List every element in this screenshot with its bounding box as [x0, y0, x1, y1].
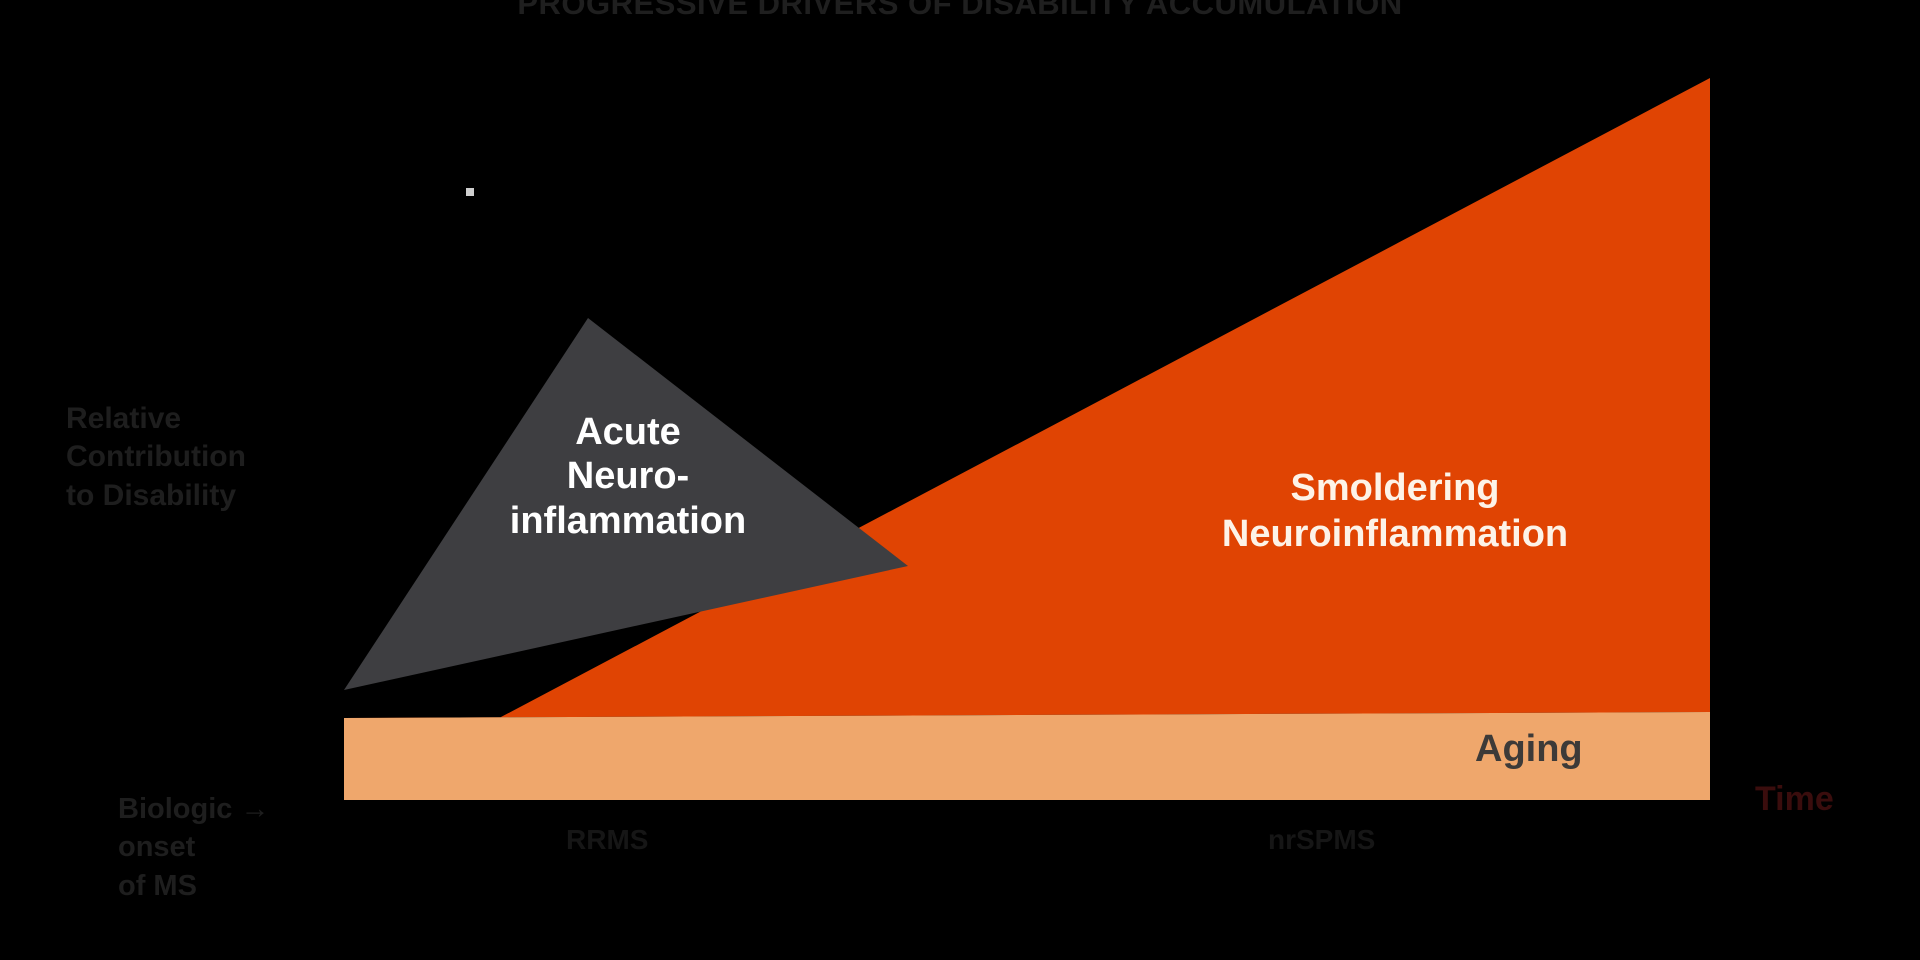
- y-axis-label-line-1: Relative: [66, 400, 336, 438]
- x-axis-origin-label: Biologic → onset of MS: [118, 790, 368, 905]
- stray-dot-artifact: [466, 188, 474, 196]
- figure-canvas: PROGRESSIVE DRIVERS OF DISABILITY ACCUMU…: [0, 0, 1920, 960]
- x-axis-origin-line-2: onset: [118, 828, 368, 866]
- x-axis-origin-line-1: Biologic →: [118, 790, 368, 828]
- x-axis-tick-rrms: RRMS: [566, 824, 648, 856]
- x-axis-origin-line-3: of MS: [118, 867, 368, 905]
- x-axis-tick-nrspms: nrSPMS: [1268, 824, 1375, 856]
- x-axis-end-label-time: Time: [1755, 780, 1834, 819]
- aging-area: [344, 712, 1710, 800]
- y-axis-label: Relative Contribution to Disability: [66, 400, 336, 515]
- y-axis-label-line-2: Contribution: [66, 438, 336, 476]
- y-axis-label-line-3: to Disability: [66, 477, 336, 515]
